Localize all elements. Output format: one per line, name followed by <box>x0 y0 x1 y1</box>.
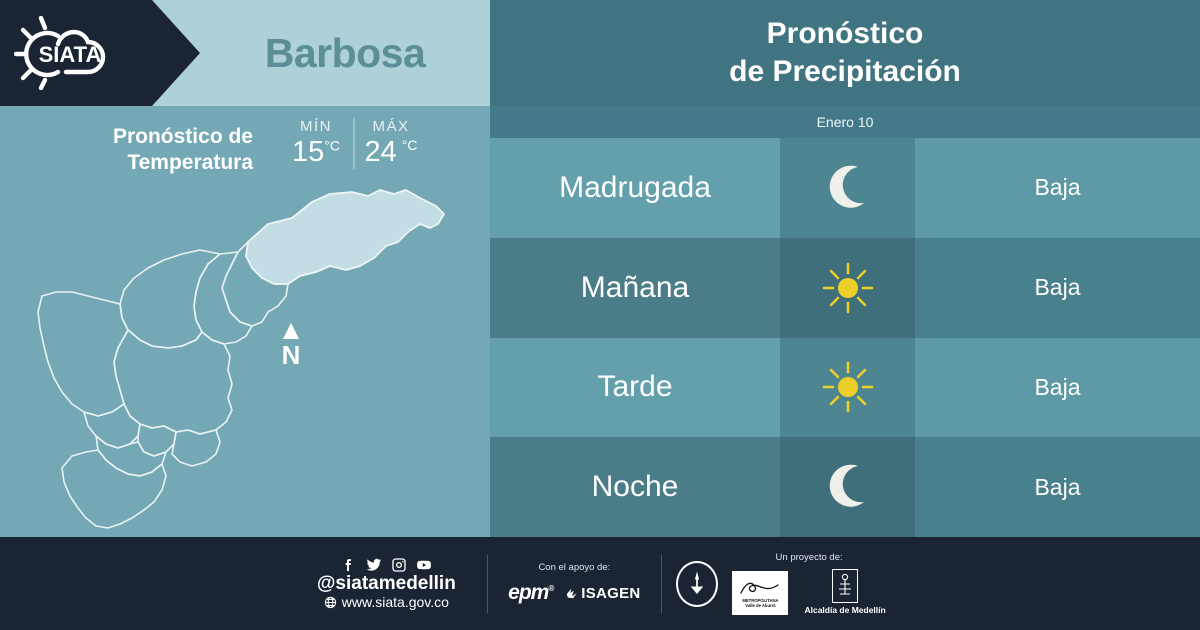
forecast-slot-cell: Tarde <box>490 338 780 438</box>
left-panel: SIATA Barbosa Pronóstico de Temperatura … <box>0 0 490 537</box>
area-logo-line1: METROPOLITANA <box>742 598 778 603</box>
moon-icon <box>821 460 875 514</box>
compass-north: N <box>282 323 301 370</box>
forecast-probability-cell: Baja <box>915 138 1200 238</box>
sun-icon <box>821 360 875 414</box>
forecast-slot-label: Madrugada <box>559 171 711 205</box>
temperature-min-value: 15 <box>292 136 324 168</box>
twitter-icon[interactable] <box>366 557 382 573</box>
project-caption: Un proyecto de: <box>776 552 843 563</box>
website-url[interactable]: www.siata.gov.co <box>342 594 449 610</box>
map-municipality-outlines <box>38 190 444 528</box>
udea-seal-logo <box>676 561 718 607</box>
forecast-icon-cell <box>780 338 915 438</box>
forecast-slot-label: Noche <box>592 470 679 504</box>
right-panel: Pronóstico de Precipitación Enero 10 Mad… <box>490 0 1200 537</box>
infographic-root: SIATA Barbosa Pronóstico de Temperatura … <box>0 0 1200 630</box>
alcaldia-logo: Alcaldía de Medellín <box>804 569 885 615</box>
left-header-band: SIATA Barbosa <box>0 0 490 106</box>
forecast-slot-cell: Madrugada <box>490 138 780 238</box>
website-row[interactable]: www.siata.gov.co <box>324 594 449 610</box>
youtube-icon[interactable] <box>416 557 432 573</box>
forecast-slot-cell: Noche <box>490 437 780 537</box>
footer-divider <box>661 555 662 613</box>
table-row: Mañana <box>490 238 1200 338</box>
footer: @siatamedellin www.siata.gov.co Con el a… <box>0 537 1200 630</box>
support-caption: Con el apoyo de: <box>538 562 610 573</box>
forecast-title-line1: Pronóstico <box>767 15 924 53</box>
forecast-probability-cell: Baja <box>915 437 1200 537</box>
siata-logo-tag: SIATA <box>0 0 200 106</box>
temperature-max-value-wrap: 24°C <box>355 136 427 169</box>
project-column: Un proyecto de: METROPOLITANA Valle de A… <box>718 552 900 615</box>
map-region-medellin <box>114 330 232 434</box>
instagram-icon[interactable] <box>391 557 407 573</box>
forecast-date: Enero 10 <box>490 106 1200 138</box>
forecast-probability-label: Baja <box>1034 274 1080 301</box>
footer-divider <box>487 555 488 613</box>
map-region-envigado <box>172 430 220 466</box>
moon-icon <box>821 161 875 215</box>
forecast-probability-cell: Baja <box>915 338 1200 438</box>
isagen-logo-text: ISAGEN <box>581 585 640 602</box>
forecast-title-line2: de Precipitación <box>729 53 961 91</box>
isagen-logo: ISAGEN <box>565 585 640 602</box>
forecast-slot-label: Tarde <box>597 370 672 404</box>
forecast-probability-label: Baja <box>1034 474 1080 501</box>
social-icons <box>341 557 432 573</box>
epm-logo-text: epm <box>508 581 548 604</box>
forecast-probability-cell: Baja <box>915 238 1200 338</box>
temperature-max-label: MÁX <box>355 118 427 135</box>
temperature-values: MÍN 15°C MÁX 24°C <box>279 118 427 169</box>
map-region-west <box>38 292 128 416</box>
page-title: Barbosa <box>200 0 490 106</box>
forecast-title: Pronóstico de Precipitación <box>490 0 1200 106</box>
aburra-valley-map: N <box>0 180 490 537</box>
globe-icon <box>324 596 337 609</box>
forecast-icon-cell <box>780 437 915 537</box>
footer-content: @siatamedellin www.siata.gov.co Con el a… <box>300 537 900 630</box>
temperature-max: MÁX 24°C <box>353 118 427 169</box>
sun-cloud-icon: SIATA <box>14 16 138 90</box>
map-region-copacabana <box>194 252 252 344</box>
alcaldia-logo-text: Alcaldía de Medellín <box>804 605 885 615</box>
temperature-max-value: 24 <box>365 136 397 168</box>
temperature-min-value-wrap: 15°C <box>279 136 353 169</box>
temperature-title-line1: Pronóstico de <box>113 125 253 148</box>
map-region-bello <box>120 250 220 348</box>
area-logo-subtitle: METROPOLITANA Valle de Aburrá <box>742 598 778 609</box>
support-column: Con el apoyo de: epm® ISAGEN <box>502 562 647 605</box>
area-metropolitana-logo: METROPOLITANA Valle de Aburrá <box>732 571 788 615</box>
map-region-itagui <box>84 404 140 448</box>
support-logos: epm® ISAGEN <box>508 581 640 605</box>
epm-logo: epm® <box>508 581 553 605</box>
map-region-caldas <box>62 450 166 528</box>
area-signature-icon <box>738 578 782 598</box>
forecast-icon-cell <box>780 238 915 338</box>
left-body: Pronóstico de Temperatura MÍN 15°C MÁX 2… <box>0 106 490 537</box>
temperature-min-unit: °C <box>324 137 340 153</box>
temperature-min: MÍN 15°C <box>279 118 353 169</box>
forecast-slot-label: Mañana <box>581 271 689 305</box>
forecast-probability-label: Baja <box>1034 174 1080 201</box>
alcaldia-emblem-icon <box>836 573 854 599</box>
forecast-icon-cell <box>780 138 915 238</box>
table-row: Noche Baja <box>490 437 1200 537</box>
map-svg: N <box>0 180 490 537</box>
temperature-title: Pronóstico de Temperatura <box>63 118 253 175</box>
sun-icon <box>821 261 875 315</box>
temperature-title-line2: Temperatura <box>127 151 253 174</box>
area-logo-line2: Valle de Aburrá <box>745 603 775 608</box>
temperature-max-unit: °C <box>402 137 418 153</box>
social-handle[interactable]: @siatamedellin <box>317 574 456 594</box>
compass-arrow-icon <box>283 323 299 339</box>
map-region-barbosa <box>246 190 444 284</box>
social-column: @siatamedellin www.siata.gov.co <box>300 557 473 611</box>
compass-label: N <box>282 340 301 370</box>
isagen-mark-icon <box>565 586 579 600</box>
logo-wordmark: SIATA <box>39 42 102 67</box>
table-row: Madrugada Baja <box>490 138 1200 238</box>
temperature-min-label: MÍN <box>279 118 353 135</box>
temperature-block: Pronóstico de Temperatura MÍN 15°C MÁX 2… <box>0 118 490 184</box>
seal-emblem-icon <box>682 569 712 599</box>
forecast-probability-label: Baja <box>1034 374 1080 401</box>
project-logos: METROPOLITANA Valle de Aburrá Al <box>732 569 885 615</box>
table-row: Tarde <box>490 338 1200 438</box>
forecast-table: Madrugada Baja Mañana <box>490 138 1200 537</box>
facebook-icon[interactable] <box>341 557 357 573</box>
forecast-slot-cell: Mañana <box>490 238 780 338</box>
alcaldia-crest-icon <box>832 569 858 603</box>
